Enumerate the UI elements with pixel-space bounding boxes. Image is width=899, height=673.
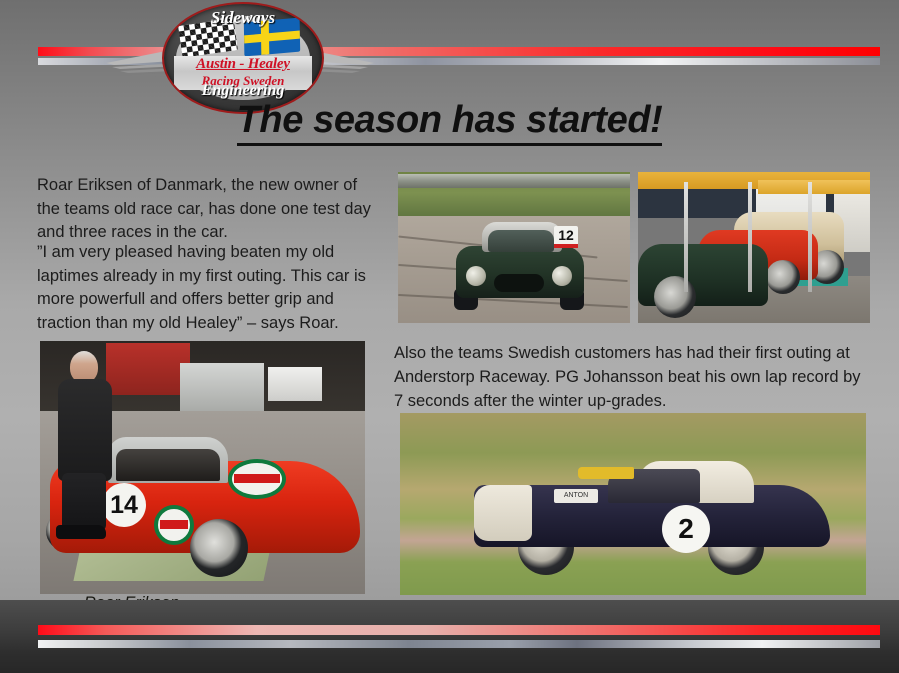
car-race-number: 2: [662, 505, 710, 553]
car-headlamp: [466, 266, 486, 286]
logo-top-text: Sideways: [164, 8, 322, 28]
decal-band: [160, 520, 188, 529]
car-headlamp: [552, 266, 572, 286]
awning-pole: [748, 182, 752, 292]
logo-oval: Austin - Healey Racing Sweden Sideways E…: [162, 2, 324, 114]
intro-paragraph: Roar Eriksen of Danmark, the new owner o…: [37, 174, 377, 245]
paddock-awning: [758, 180, 870, 194]
photo-green-healey-on-track: 12: [398, 172, 630, 323]
driver-legs: [62, 473, 106, 531]
footer-silver-stripe: [38, 640, 880, 648]
castrol-decal: [228, 459, 286, 499]
paddock-trailer: [180, 363, 264, 411]
page-title-text: The season has started!: [237, 99, 663, 146]
car-sun-strip: [578, 467, 634, 479]
photo-red-healey-with-driver: 14: [40, 341, 365, 594]
roundel-red-band: [554, 244, 578, 248]
awning-pole: [684, 182, 688, 292]
footer-banner: [0, 600, 899, 673]
logo-plaque-line1: Austin - Healey: [174, 56, 312, 73]
car-nose: [474, 485, 532, 541]
car-race-number: 12: [554, 226, 578, 248]
car-wheel: [190, 519, 248, 577]
car-windscreen: [488, 230, 554, 252]
quote-paragraph: ”I am very pleased having beaten my old …: [37, 241, 377, 335]
blue-race-car: ANTON 2: [474, 461, 830, 569]
photo-barrier: [398, 174, 630, 188]
photo-blue-healey-panning: ANTON 2: [400, 413, 866, 595]
right-paragraph: Also the teams Swedish customers has had…: [394, 341, 874, 413]
sideways-engineering-logo: Austin - Healey Racing Sweden Sideways E…: [104, 2, 376, 110]
paddock-van: [268, 367, 322, 401]
decal-band: [234, 474, 280, 483]
car-grille: [494, 274, 544, 292]
newsletter-page: Austin - Healey Racing Sweden Sideways E…: [0, 0, 899, 673]
awning-pole: [808, 182, 812, 292]
paddock-truck-red: [106, 343, 190, 395]
photo-paddock-line-up: [638, 172, 870, 323]
driver-race-suit: [58, 379, 112, 481]
green-race-car: 12: [456, 222, 584, 308]
car-wheel: [654, 276, 696, 318]
car-race-number-text: 12: [554, 226, 578, 244]
car-wheel: [766, 260, 800, 294]
footer-red-stripe: [38, 625, 880, 635]
castrol-decal: [154, 505, 194, 545]
page-title: The season has started!: [0, 99, 899, 142]
car-windscreen: [116, 449, 220, 481]
driver-boots: [56, 525, 106, 539]
driver-figure: [54, 351, 116, 539]
logo-bottom-text: Engineering: [164, 82, 322, 100]
anton-decal: ANTON: [554, 489, 598, 503]
